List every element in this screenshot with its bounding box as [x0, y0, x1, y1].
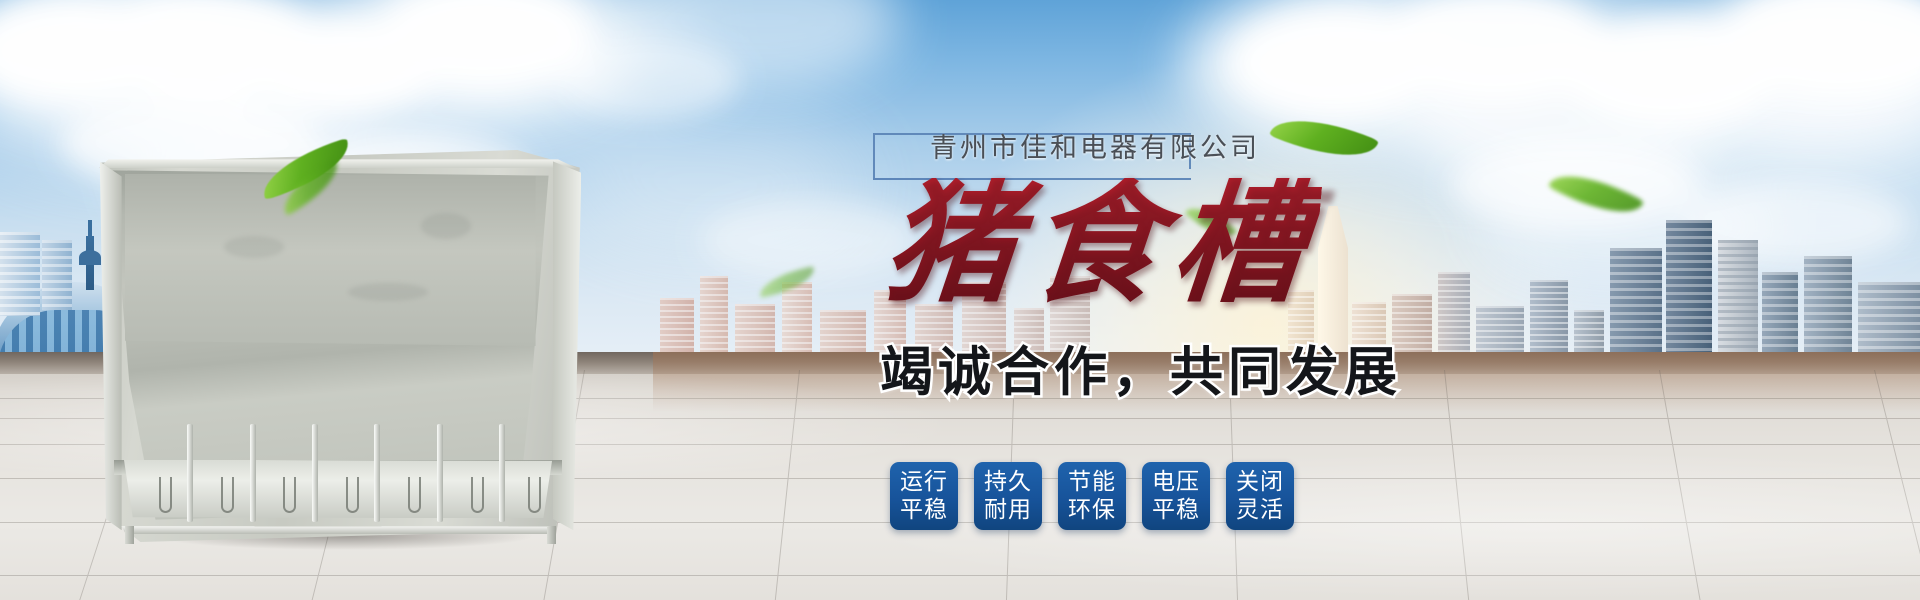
skyline-building: [1610, 248, 1662, 368]
feature-badge[interactable]: 电压 平稳: [1142, 462, 1210, 530]
skyline-building: [0, 232, 40, 316]
feature-badge[interactable]: 节能 环保: [1058, 462, 1126, 530]
badge-line-1: 关闭: [1236, 468, 1284, 496]
drinking-nipple: [283, 477, 296, 512]
subheadline: 竭诚合作，共同发展: [880, 345, 1402, 401]
drinking-nipple: [528, 477, 541, 512]
badge-line-1: 电压: [1152, 468, 1200, 496]
feeder-leg: [125, 526, 134, 544]
company-name: 青州市佳和电器有限公司: [930, 126, 1260, 165]
drinking-nipple: [346, 477, 359, 512]
feeder-smudge: [421, 213, 471, 239]
badge-line-2: 耐用: [984, 496, 1032, 524]
feeder-divider: [187, 424, 193, 522]
feature-badge-list: 运行 平稳 持久 耐用 节能 环保 电压 平稳 关闭 灵活: [890, 462, 1294, 530]
feeder-divider: [312, 424, 318, 522]
badge-line-1: 节能: [1068, 468, 1116, 496]
skyline-building: [42, 240, 72, 310]
badge-line-2: 环保: [1068, 496, 1116, 524]
feeder-divider: [250, 424, 256, 522]
feeder-divider: [374, 424, 380, 522]
feeder-leg: [547, 526, 556, 544]
skyline-building: [1666, 220, 1712, 368]
feeder-divider: [437, 424, 443, 522]
drinking-nipple: [221, 477, 234, 512]
feeder-trough: [120, 460, 557, 519]
page-title: 猪食槽: [879, 178, 1323, 310]
badge-line-1: 持久: [984, 468, 1032, 496]
feeder-divider: [499, 424, 505, 522]
feature-badge[interactable]: 关闭 灵活: [1226, 462, 1294, 530]
promo-banner: 青州市佳和电器有限公司 猪食槽 猪食槽 竭诚合作，共同发展 运行 平稳 持久 耐…: [0, 0, 1920, 600]
feeder-bottom-bar: [117, 526, 559, 534]
drinking-nipple: [408, 477, 421, 512]
badge-line-1: 运行: [900, 468, 948, 496]
drinking-nipple: [159, 477, 172, 512]
feature-badge[interactable]: 运行 平稳: [890, 462, 958, 530]
feeder-smudge: [224, 236, 284, 258]
badge-line-2: 灵活: [1236, 496, 1284, 524]
product-image-pig-feeder: [78, 150, 598, 542]
feature-badge[interactable]: 持久 耐用: [974, 462, 1042, 530]
badge-line-2: 平稳: [900, 496, 948, 524]
feeder-back-wall: [125, 174, 536, 346]
skyline-building: [1718, 240, 1758, 368]
drinking-nipple: [471, 477, 484, 512]
badge-line-2: 平稳: [1152, 496, 1200, 524]
